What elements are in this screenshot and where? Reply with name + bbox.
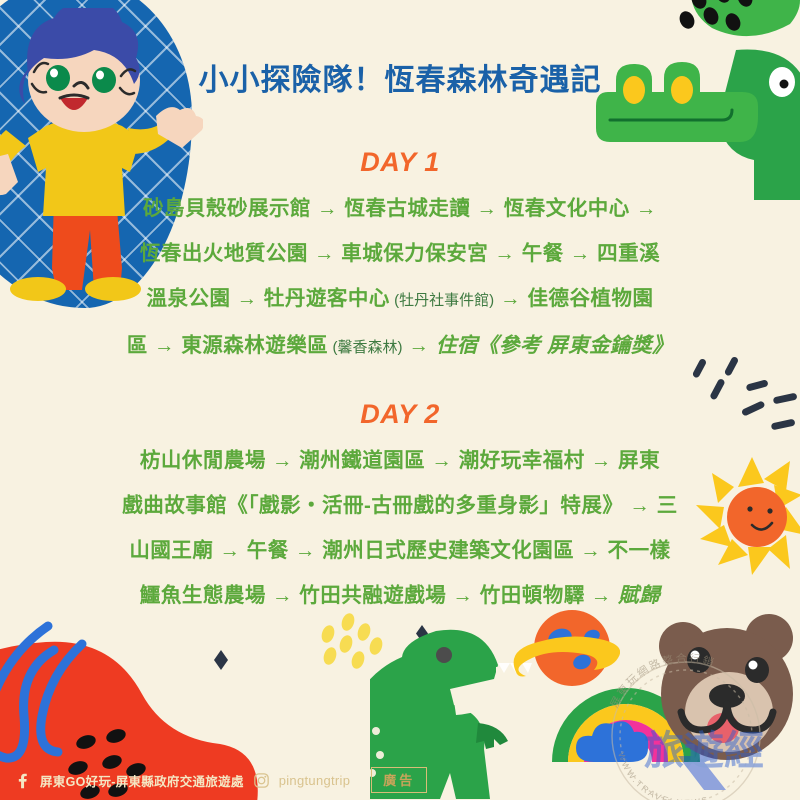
arrow-separator: → bbox=[213, 539, 246, 562]
stop-name: 戲曲故事館《「戲影・活冊-古冊戲的多重身影」特展》 bbox=[122, 494, 623, 517]
stop-note: (馨香森林) bbox=[328, 339, 402, 356]
itinerary-line: 恆春出火地質公園 → 車城保力保安宮 → 午餐 → 四重溪 bbox=[0, 231, 800, 276]
day-1-heading: DAY 1 bbox=[0, 147, 800, 178]
arrow-separator: → bbox=[623, 494, 656, 517]
stop-name: 溫泉公園 bbox=[147, 287, 231, 310]
stop-name: 竹田頓物驛 bbox=[480, 584, 585, 607]
stop-name: 山國王廟 bbox=[129, 539, 213, 562]
poster-content: 小小探險隊！恆春森林奇遇記 DAY 1 砂島貝殼砂展示館 → 恆春古城走讀 → … bbox=[0, 0, 800, 800]
stop-name: 恆春古城走讀 bbox=[344, 197, 470, 220]
arrow-separator: → bbox=[425, 449, 458, 472]
arrow-separator: → bbox=[630, 197, 657, 220]
ad-badge: 廣告 bbox=[371, 767, 427, 793]
stop-name: 區 bbox=[127, 334, 148, 357]
arrow-separator: → bbox=[446, 584, 479, 607]
stop-name: 東源森林遊樂區 bbox=[181, 334, 328, 357]
arrow-separator: → bbox=[574, 539, 607, 562]
arrow-separator: → bbox=[585, 584, 618, 607]
stop-name: 牡丹遊客中心 bbox=[264, 287, 390, 310]
itinerary-line: 砂島貝殼砂展示館 → 恆春古城走讀 → 恆春文化中心 → bbox=[0, 186, 800, 231]
stop-name: 恆春文化中心 bbox=[504, 197, 630, 220]
day-2-itinerary: 枋山休閒農場 → 潮州鐵道園區 → 潮好玩幸福村 → 屏東 戲曲故事館《「戲影・… bbox=[0, 438, 800, 618]
stop-name: 潮州鐵道園區 bbox=[299, 449, 425, 472]
arrow-separator: → bbox=[231, 287, 264, 310]
arrow-separator: → bbox=[470, 197, 503, 220]
arrow-separator: → bbox=[311, 197, 344, 220]
stop-name: 佳德谷植物園 bbox=[527, 287, 653, 310]
facebook-icon[interactable] bbox=[14, 772, 31, 789]
stop-name: 屏東 bbox=[618, 449, 660, 472]
arrow-separator: → bbox=[488, 242, 521, 265]
stop-name: 砂島貝殼砂展示館 bbox=[143, 197, 311, 220]
day-1-itinerary: 砂島貝殼砂展示館 → 恆春古城走讀 → 恆春文化中心 → 恆春出火地質公園 → … bbox=[0, 186, 800, 370]
arrow-separator: → bbox=[308, 242, 341, 265]
return-note: 賦歸 bbox=[618, 584, 660, 607]
itinerary-line: 區 → 東源森林遊樂區 (馨香森林) → 住宿《參考 屏東金鑰獎》 bbox=[0, 323, 800, 370]
stop-name: 三 bbox=[657, 494, 678, 517]
instagram-icon[interactable] bbox=[253, 772, 270, 789]
arrow-separator: → bbox=[494, 287, 527, 310]
stop-name: 鱷魚生態農場 bbox=[140, 584, 266, 607]
arrow-separator: → bbox=[402, 334, 435, 357]
stop-name: 恆春出火地質公園 bbox=[140, 242, 308, 265]
arrow-separator: → bbox=[148, 334, 181, 357]
itinerary-line: 戲曲故事館《「戲影・活冊-古冊戲的多重身影」特展》 → 三 bbox=[0, 483, 800, 528]
stop-name: 潮州日式歷史建築文化園區 bbox=[322, 539, 574, 562]
arrow-separator: → bbox=[266, 584, 299, 607]
itinerary-line: 山國王廟 → 午餐 → 潮州日式歷史建築文化園區 → 不一樣 bbox=[0, 528, 800, 573]
stop-name: 午餐 bbox=[247, 539, 289, 562]
footer-bar: 屏東GO好玩-屏東縣政府交通旅遊處 pingtungtrip 廣告 bbox=[0, 760, 800, 800]
stop-name: 潮好玩幸福村 bbox=[459, 449, 585, 472]
arrow-separator: → bbox=[266, 449, 299, 472]
stop-name: 午餐 bbox=[522, 242, 564, 265]
page-title: 小小探險隊！恆春森林奇遇記 bbox=[0, 62, 800, 100]
stop-note: (牡丹社事件館) bbox=[390, 292, 494, 309]
instagram-handle-label[interactable]: pingtungtrip bbox=[279, 773, 351, 788]
stop-name: 枋山休閒農場 bbox=[140, 449, 266, 472]
itinerary-line: 枋山休閒農場 → 潮州鐵道園區 → 潮好玩幸福村 → 屏東 bbox=[0, 438, 800, 483]
itinerary-line: 鱷魚生態農場 → 竹田共融遊戲場 → 竹田頓物驛 → 賦歸 bbox=[0, 573, 800, 618]
arrow-separator: → bbox=[585, 449, 618, 472]
day-2-heading: DAY 2 bbox=[0, 399, 800, 430]
arrow-separator: → bbox=[289, 539, 322, 562]
lodging-note: 住宿《參考 屏東金鑰獎》 bbox=[436, 334, 673, 357]
stop-name: 車城保力保安宮 bbox=[341, 242, 488, 265]
arrow-separator: → bbox=[564, 242, 597, 265]
facebook-page-label[interactable]: 屏東GO好玩-屏東縣政府交通旅遊處 bbox=[40, 771, 244, 790]
stop-name: 竹田共融遊戲場 bbox=[299, 584, 446, 607]
stop-name: 不一樣 bbox=[608, 539, 671, 562]
poster-canvas: 屏東玩網路整合行銷 WWW.TRAVELNEWS 旅遊經 小小探險隊！恆春森林奇… bbox=[0, 0, 800, 800]
stop-name: 四重溪 bbox=[597, 242, 660, 265]
itinerary-line: 溫泉公園 → 牡丹遊客中心 (牡丹社事件館) → 佳德谷植物園 bbox=[0, 276, 800, 323]
